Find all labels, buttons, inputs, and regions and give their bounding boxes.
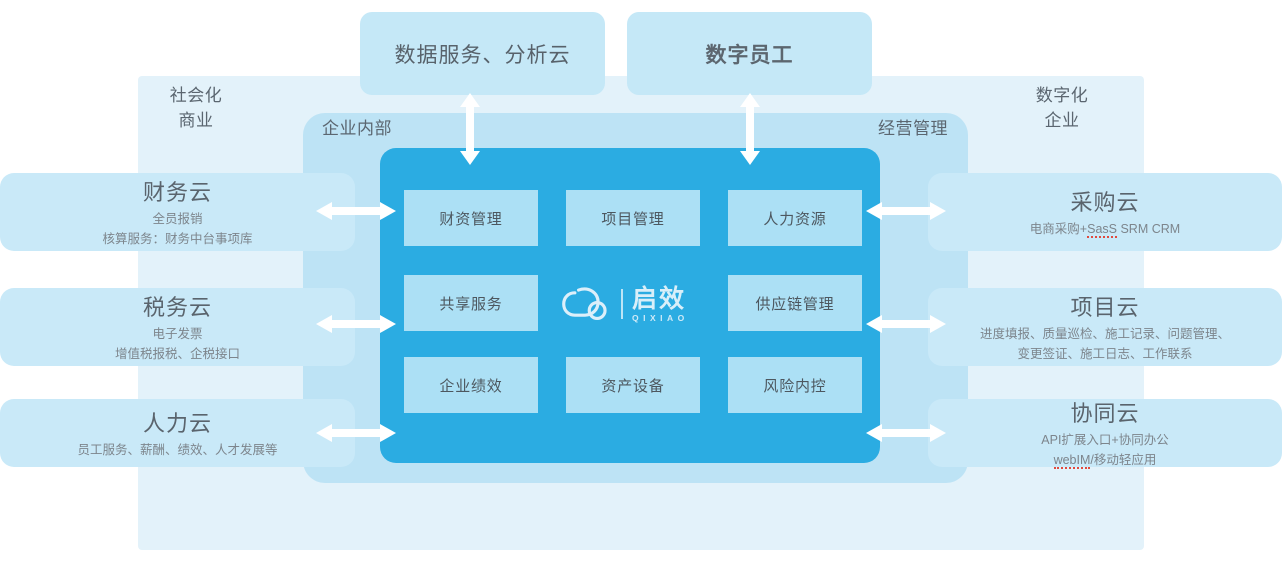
side-card-hr-cloud[interactable]: 人力云 员工服务、薪酬、绩效、人才发展等 xyxy=(0,399,355,467)
core-tile-shared[interactable]: 共享服务 xyxy=(404,275,538,331)
card-subtitle: 进度填报、质量巡检、施工记录、问题管理、 变更签证、施工日志、工作联系 xyxy=(980,325,1230,364)
card-title: 采购云 xyxy=(1070,185,1139,217)
zone-label-digital: 数字化 企业 xyxy=(1016,84,1108,133)
logo-text-en: QIXIAO xyxy=(632,314,689,323)
card-subtitle: 员工服务、薪酬、绩效、人才发展等 xyxy=(77,441,277,460)
card-title: 项目云 xyxy=(1070,290,1139,322)
arrow-hr-to-core xyxy=(316,422,396,444)
brand-logo: 启效 QIXIAO xyxy=(560,278,708,330)
card-title: 财务云 xyxy=(143,175,212,207)
zone-label-social: 社会化 商业 xyxy=(150,84,242,133)
top-box-data-service[interactable]: 数据服务、分析云 xyxy=(360,12,605,95)
card-subtitle: 电子发票 增值税报税、企税接口 xyxy=(115,325,240,364)
core-tile-treasury[interactable]: 财资管理 xyxy=(404,190,538,246)
subtitle-part: API扩展入口+协同办公 xyxy=(1041,433,1168,447)
core-tile-project[interactable]: 项目管理 xyxy=(566,190,700,246)
core-tile-supplychain[interactable]: 供应链管理 xyxy=(728,275,862,331)
side-card-collaboration-cloud[interactable]: 协同云 API扩展入口+协同办公 webIM/移动轻应用 xyxy=(928,399,1282,467)
card-title: 协同云 xyxy=(1070,396,1139,428)
top-box-label: 数字员工 xyxy=(706,39,794,69)
arrow-core-to-procurement xyxy=(866,200,946,222)
spellcheck-term: SasS xyxy=(1087,222,1117,238)
subtitle-part: SRM CRM xyxy=(1117,222,1180,236)
card-subtitle: API扩展入口+协同办公 webIM/移动轻应用 xyxy=(1041,431,1168,470)
zone-label-management: 经营管理 xyxy=(878,117,988,142)
logo-divider xyxy=(621,289,623,319)
side-card-tax-cloud[interactable]: 税务云 电子发票 增值税报税、企税接口 xyxy=(0,288,355,366)
card-subtitle: 电商采购+SasS SRM CRM xyxy=(1030,220,1180,239)
spellcheck-term: webIM xyxy=(1054,453,1091,469)
subtitle-part: /移动轻应用 xyxy=(1090,453,1156,467)
arrow-core-to-collaboration xyxy=(866,422,946,444)
core-tile-performance[interactable]: 企业绩效 xyxy=(404,357,538,413)
arrow-data-service-to-core xyxy=(455,93,485,165)
arrow-tax-to-core xyxy=(316,313,396,335)
side-card-finance-cloud[interactable]: 财务云 全员报销 核算服务：财务中台事项库 xyxy=(0,173,355,251)
core-tile-asset[interactable]: 资产设备 xyxy=(566,357,700,413)
side-card-procurement-cloud[interactable]: 采购云 电商采购+SasS SRM CRM xyxy=(928,173,1282,251)
logo-wordmark: 启效 QIXIAO xyxy=(632,286,689,323)
diagram-canvas: 社会化 商业 数字化 企业 企业内部 经营管理 数据服务、分析云 数字员工 财务… xyxy=(0,0,1282,562)
top-box-digital-employee[interactable]: 数字员工 xyxy=(627,12,872,95)
arrow-finance-to-core xyxy=(316,200,396,222)
top-box-label: 数据服务、分析云 xyxy=(395,39,571,69)
side-card-project-cloud[interactable]: 项目云 进度填报、质量巡检、施工记录、问题管理、 变更签证、施工日志、工作联系 xyxy=(928,288,1282,366)
arrow-digital-employee-to-core xyxy=(735,93,765,165)
cloud-logo-icon xyxy=(560,284,612,324)
logo-text-cn: 启效 xyxy=(632,286,689,311)
core-tile-risk[interactable]: 风险内控 xyxy=(728,357,862,413)
subtitle-part: 电商采购+ xyxy=(1030,222,1087,236)
arrow-core-to-project xyxy=(866,313,946,335)
core-tile-hr[interactable]: 人力资源 xyxy=(728,190,862,246)
card-title: 税务云 xyxy=(143,290,212,322)
card-subtitle: 全员报销 核算服务：财务中台事项库 xyxy=(102,210,252,249)
card-title: 人力云 xyxy=(143,406,212,438)
zone-label-internal: 企业内部 xyxy=(322,117,432,142)
